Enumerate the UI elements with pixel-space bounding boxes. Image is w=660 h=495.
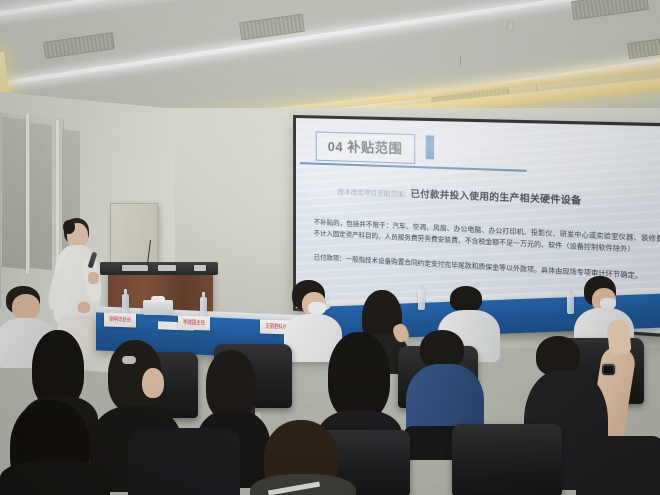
placard-text: 李建国主任	[183, 319, 205, 327]
water-bottle	[567, 292, 574, 314]
slide-paragraph-1: 不补贴的，包括并不限于：汽车、空凋、风扇、办公电脑、办公打印机、投影仪、研发中心…	[314, 217, 660, 258]
window-blind	[2, 117, 26, 270]
window-mullion	[26, 114, 29, 274]
audience-member	[576, 436, 660, 495]
title-accent-tab	[426, 135, 434, 159]
chair	[452, 424, 562, 495]
hair-tie	[122, 356, 136, 364]
raised-hand	[606, 319, 631, 355]
torso	[0, 460, 110, 495]
tissue-box	[143, 300, 173, 315]
slide-lead-line: 技术改造项目资助范围：已付款并投入使用的生产相关硬件设备	[338, 184, 660, 211]
ceiling-hanger	[460, 56, 461, 66]
av-device	[158, 265, 176, 271]
hair	[450, 286, 482, 312]
water-bottle	[418, 288, 425, 310]
audience-member	[0, 400, 120, 495]
av-device	[122, 265, 148, 271]
hair-long	[328, 332, 390, 420]
slide-lead-prefix: 技术改造项目资助范围：	[338, 189, 411, 199]
fire-sprinkler	[508, 22, 513, 30]
audience-member	[250, 420, 370, 495]
placard-text: 张明华处长	[109, 316, 131, 324]
av-device	[194, 265, 206, 271]
conference-room-photo: 04 补贴范围 ” 技术改造项目资助范围：已付款并投入使用的生产相关硬件设备 不…	[0, 0, 660, 495]
slide-title: 04 补贴范围	[328, 139, 403, 156]
presenter-bun	[63, 220, 75, 234]
hair	[420, 330, 464, 368]
torso	[576, 436, 660, 495]
slide-title-box: 04 补贴范围	[316, 132, 415, 164]
audience-member	[128, 418, 248, 495]
head	[12, 294, 40, 320]
smartwatch	[602, 364, 615, 375]
presenter-hand	[88, 272, 99, 284]
torso	[128, 428, 240, 495]
head	[142, 368, 164, 398]
name-placard: 李建国主任	[178, 315, 210, 330]
presenter-hand-left	[78, 302, 90, 313]
name-placard: 张明华处长	[104, 312, 136, 327]
slide-lead-emphasis: 已付款并投入使用的生产相关硬件设备	[411, 188, 582, 205]
